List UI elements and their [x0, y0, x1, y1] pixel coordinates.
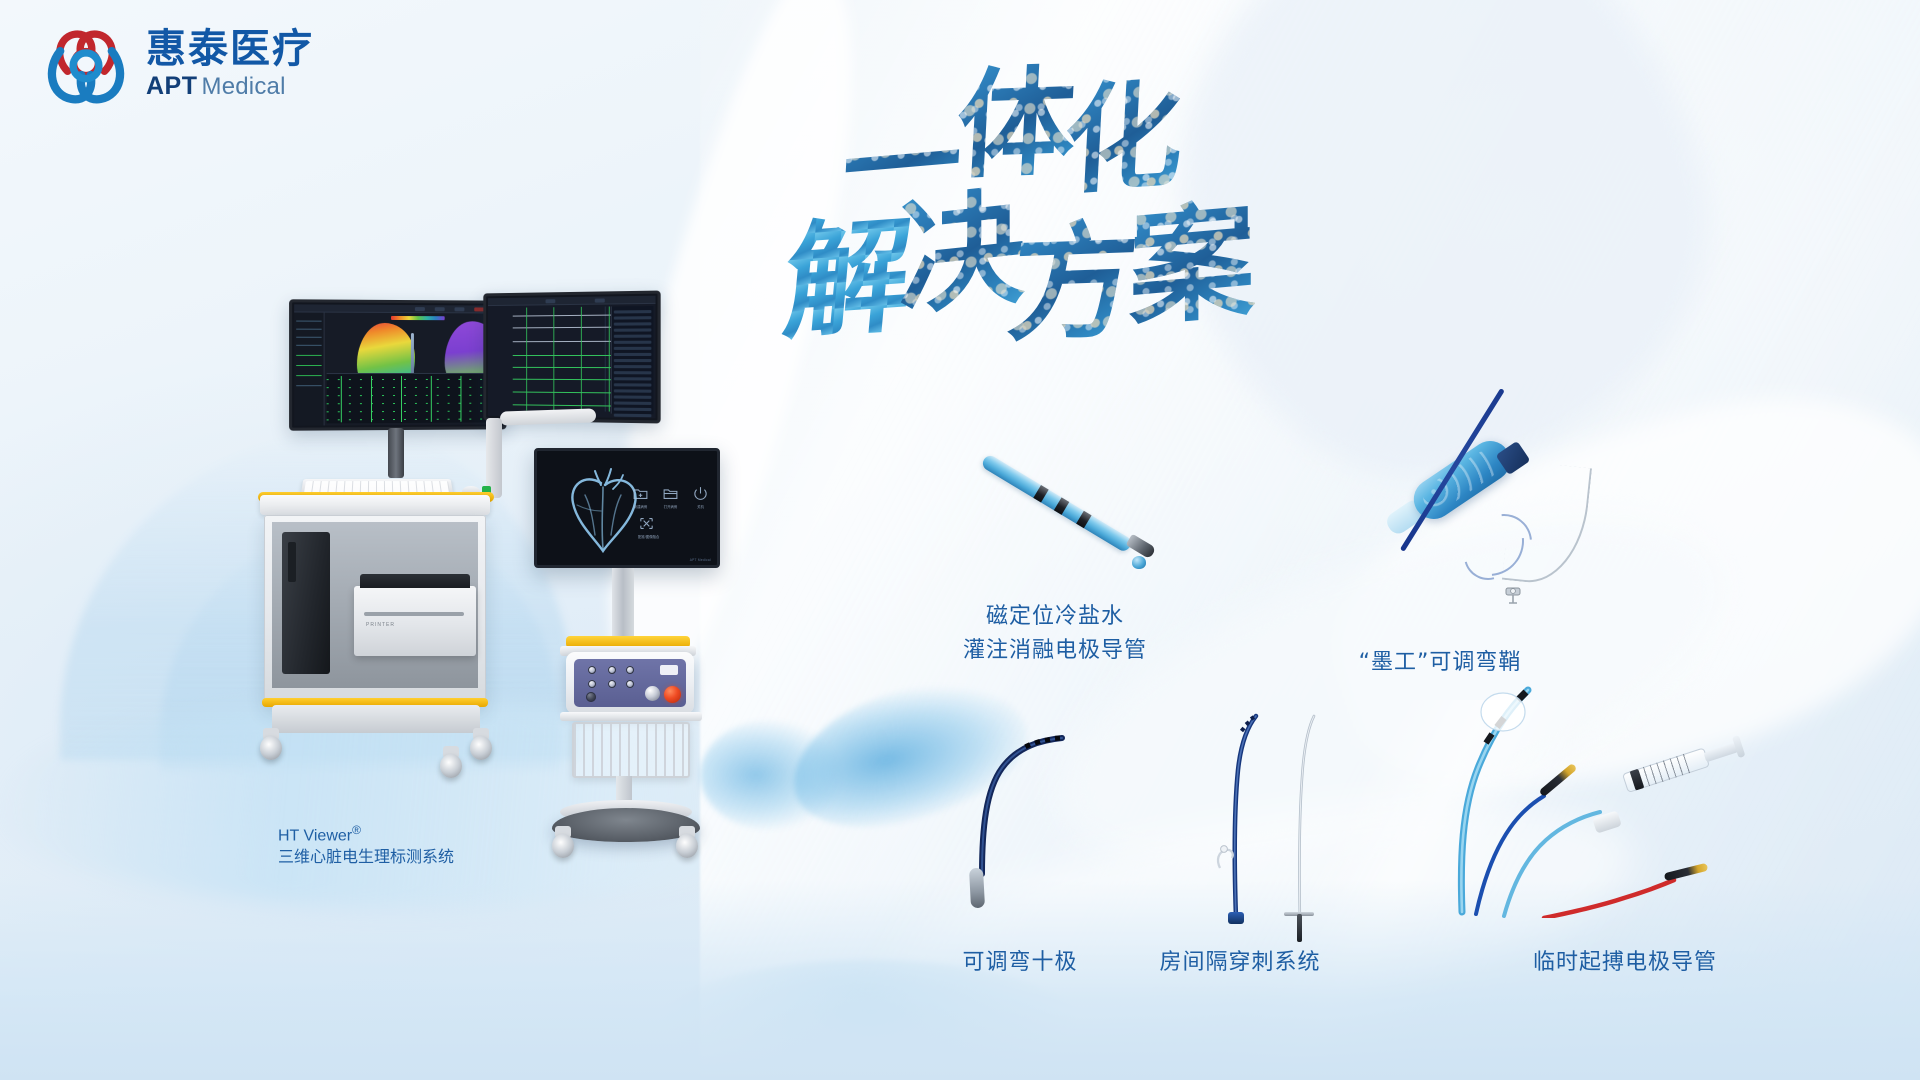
registration-icon[interactable]: 配准/图像融合	[638, 515, 655, 532]
ecg-toolbar	[488, 296, 655, 306]
transseptal-puncture-icon	[1208, 700, 1358, 930]
cart-worktop	[260, 495, 490, 515]
registration-label: 配准/图像融合	[638, 534, 655, 539]
pacing-label-line-1: 临时起搏电极导管	[1455, 946, 1795, 980]
stimulator-output-knob[interactable]	[645, 686, 660, 701]
power-icon[interactable]: 关机	[692, 485, 709, 502]
stimulator-panel	[574, 659, 686, 707]
stimulator-cart-caster	[672, 826, 702, 860]
computer-tower	[282, 532, 330, 674]
headline-char-6: 方	[1002, 180, 1148, 366]
brand-name-en-light: Medical	[202, 73, 286, 101]
ecg-data-panel	[611, 306, 654, 414]
decapolar-catheter-icon	[968, 728, 1088, 918]
open-case-label: 打开病例	[662, 504, 679, 509]
stimulator-cart-top	[560, 712, 702, 721]
blue-ink-splash-2	[700, 720, 840, 830]
headline-line-2: 解决方案	[787, 168, 1255, 350]
cart-caster	[466, 728, 496, 762]
brand-logo: 惠泰医疗 APT Medical	[40, 18, 314, 110]
open-case-icon[interactable]: 打开病例	[662, 485, 679, 502]
mapping-side-panel	[294, 312, 324, 425]
temporary-pacing-catheter-icon	[1448, 668, 1838, 918]
steerable-sheath-icon	[1390, 448, 1670, 608]
stimulator-emergency-button[interactable]	[664, 686, 681, 703]
poster-canvas: 惠泰医疗 APT Medical 一体化 解决方案	[0, 0, 1920, 1080]
power-label: 关机	[692, 504, 709, 509]
monitor-arm	[500, 408, 596, 425]
sheath-hemostasis-valve-icon	[1500, 584, 1526, 606]
ecg-monitor	[483, 291, 660, 424]
mapping-screen	[294, 304, 502, 425]
product-label-pacing-catheter: 临时起搏电极导管	[1455, 946, 1795, 980]
ablation-label-line-2: 灌注消融电极导管	[855, 634, 1255, 668]
transseptal-dilator-hub	[1228, 912, 1244, 924]
new-case-label: 新建病例	[632, 504, 649, 509]
transseptal-label-line-1: 房间隔穿刺系统	[1090, 946, 1390, 980]
stimulator-cart-caster	[548, 826, 578, 860]
ht-viewer-label-block: HT Viewer® 三维心脏电生理标测系统	[278, 822, 454, 869]
printer: PRINTER	[354, 586, 476, 656]
stimulator-display	[660, 665, 678, 675]
headline-char-5: 决	[899, 146, 1026, 340]
product-label-transseptal: 房间隔穿刺系统	[1090, 946, 1390, 980]
brand-wordmark: 惠泰医疗 APT Medical	[146, 28, 314, 101]
brand-name-cn: 惠泰医疗	[146, 28, 314, 70]
heart-monitor-icon-bar: 新建病例 打开病例 关机	[632, 485, 709, 502]
transseptal-needle-tail	[1297, 914, 1302, 942]
heart-xray-image	[555, 459, 651, 563]
decapolar-handle	[969, 868, 985, 909]
headline-char-7: 案	[1129, 159, 1255, 351]
heart-display-monitor: 新建病例 打开病例 关机 配准/图像融合 APT Medical	[534, 448, 720, 568]
ablation-label-line-1: 磁定位冷盐水	[855, 600, 1255, 634]
brand-name-en-bold: APT	[146, 72, 198, 101]
mapping-ecg-strip	[327, 373, 500, 423]
stimulator-cart-basket	[572, 722, 690, 778]
color-scale-bar	[391, 316, 445, 320]
system-name-cn: 三维心脏电生理标测系统	[278, 847, 454, 869]
heart-monitor-stand	[612, 568, 634, 640]
mapping-monitor	[289, 299, 506, 430]
stimulator-unit	[566, 652, 694, 714]
irrigated-ablation-catheter-icon	[984, 452, 1194, 582]
cart-base	[272, 705, 480, 733]
new-case-icon[interactable]: 新建病例	[632, 485, 649, 502]
mapping-toolbar	[294, 304, 502, 313]
product-label-ablation-catheter: 磁定位冷盐水 灌注消融电极导管	[855, 600, 1255, 668]
cart-caster	[256, 728, 286, 762]
monitor-stand	[388, 428, 404, 478]
heart-monitor-footer: APT Medical	[690, 558, 711, 562]
apt-medical-logo-icon	[40, 18, 132, 110]
ecg-screen	[488, 296, 655, 419]
system-name-en: HT Viewer®	[278, 822, 454, 847]
cart-caster	[436, 746, 466, 780]
headline-calligraphy: 一体化 解决方案	[955, 40, 1615, 340]
